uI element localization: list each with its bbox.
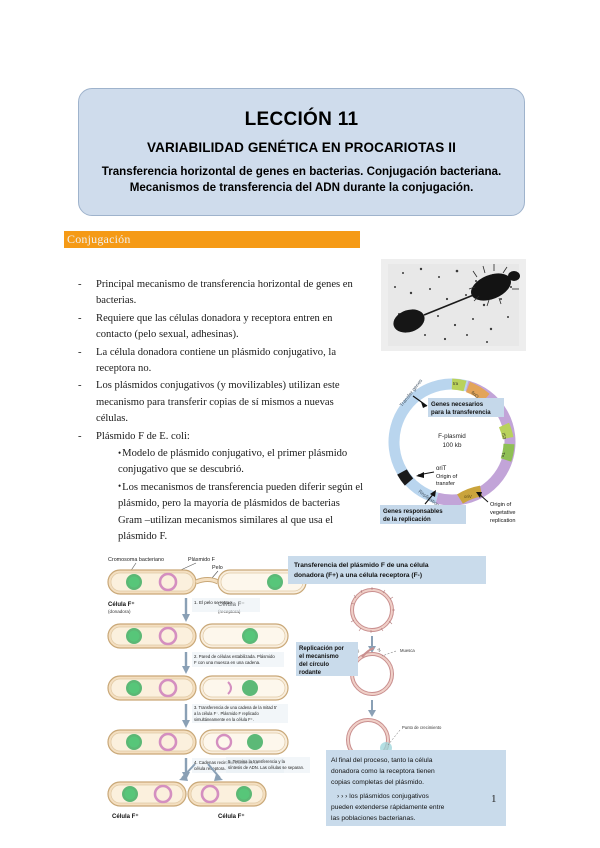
- callout-transfer-line2: para la transferencia: [431, 409, 491, 416]
- lesson-description: Transferencia horizontal de genes en bac…: [102, 164, 502, 195]
- document-page: LECCIÓN 11 VARIABILIDAD GENÉTICA EN PROC…: [0, 0, 600, 848]
- label-chromosome: Cromosoma bacteriano: [108, 557, 164, 563]
- f-plasmid-map-figure: tra finO IS3 Tn oriV Transfer genes Repl…: [378, 362, 533, 534]
- callout-replication-line2: de la replicación: [383, 516, 431, 523]
- step-1-text: 1. El pelo se retrae.: [194, 600, 233, 605]
- bullet-text: La célula donadora contiene un plásmido …: [96, 345, 366, 378]
- orit-label: oriT: [436, 466, 447, 472]
- step-3-text: 3. Transferencia de una cadena de la mit…: [194, 705, 277, 710]
- bullet-marker: -: [74, 429, 96, 445]
- plasmid-center-title: F-plasmid: [438, 433, 466, 440]
- callout-rolling-line2: el mecanismo: [299, 654, 339, 660]
- callout-final-box: Al final del proceso, tanto la célula do…: [326, 750, 506, 826]
- oriv-label-line2: vegetative: [490, 510, 516, 516]
- callout-rolling-line4: rodante: [299, 670, 322, 676]
- callout-rolling-line1: Replicación por: [299, 646, 345, 652]
- oriv-label-line1: Origin of: [490, 502, 512, 508]
- callout-rolling-circle-box: Replicación por el mecanismo del círculo…: [296, 642, 358, 676]
- callout-rolling-line3: del círculo: [299, 662, 329, 668]
- lesson-title-box: LECCIÓN 11 VARIABILIDAD GENÉTICA EN PROC…: [78, 88, 525, 216]
- page-title: LECCIÓN 11: [245, 109, 359, 131]
- bullet-marker: -: [74, 277, 96, 310]
- gene-tag-tra: tra: [453, 381, 459, 386]
- callout-transfer-line1: Transferencia del plásmido F de una célu…: [294, 562, 429, 569]
- label-final-left-cell: Célula F⁺: [112, 813, 139, 820]
- step-3-text-b: a la célula F⁻. Plásmido F replicado: [194, 711, 259, 716]
- bullet-marker: -: [74, 311, 96, 344]
- step-5-text: 5. Termina la transferencia y la: [228, 759, 286, 764]
- orit-sub-line1: Origin of: [436, 474, 458, 480]
- conjugation-process-figure: Cromosoma bacteriano Plásmido F Pelo: [100, 552, 510, 832]
- callout-final-line1: Al final del proceso, tanto la célula: [331, 757, 433, 764]
- page-number: 1: [491, 793, 497, 805]
- section-banner-label: Conjugación: [67, 232, 131, 247]
- bullet-text: Los plásmidos conjugativos (y movilizabl…: [96, 378, 366, 427]
- bullet-text: Principal mecanismo de transferencia hor…: [96, 277, 366, 310]
- bullet-marker: -: [74, 378, 96, 427]
- step-3-text-c: simultáneamente en la célula F⁺.: [194, 717, 254, 722]
- plasmid-center-size: 100 kb: [443, 442, 462, 449]
- label-final-right-cell: Célula F⁺: [218, 813, 245, 820]
- callout-final-line4: › › › los plásmidos conjugativos: [337, 793, 429, 800]
- callout-final-line6: las poblaciones bacterianas.: [331, 815, 416, 822]
- callout-transfer-line2: donadora (F+) a una célula receptora (F-…: [294, 572, 422, 579]
- bullet-text: Requiere que las células donadora y rece…: [96, 311, 366, 344]
- gene-tag-oriv: oriV: [464, 494, 472, 499]
- list-item: - Los plásmidos conjugativos (y moviliza…: [74, 378, 366, 427]
- step-2-text: 2. Pared de células estabilizada. Plásmi…: [194, 654, 275, 659]
- label-pilus: Pelo: [212, 565, 223, 571]
- section-banner-conjugacion: Conjugación: [64, 231, 360, 248]
- list-item: Los mecanismos de transferencia pueden d…: [74, 480, 366, 546]
- step-5-text-b: síntesis de ADN. Las células se separan.: [228, 765, 304, 770]
- label-donor-cell: Célula F⁺: [108, 601, 135, 608]
- label-nick: Muesca: [400, 648, 415, 653]
- bullet-text: Plásmido F de E. coli:: [96, 429, 366, 445]
- sub-bullet-text: Modelo de plásmido conjugativo, el prime…: [118, 446, 366, 479]
- list-item: - Requiere que las células donadora y re…: [74, 311, 366, 344]
- bullet-marker: -: [74, 345, 96, 378]
- callout-final-line3: copias completas del plásmido.: [331, 779, 424, 786]
- sub-bullet-text: Los mecanismos de transferencia pueden d…: [118, 480, 366, 546]
- step-2-text-cont: F con una muesca en una cadena.: [194, 660, 260, 665]
- callout-replication-line1: Genes responsables: [383, 508, 443, 515]
- list-item: - Principal mecanismo de transferencia h…: [74, 277, 366, 310]
- callout-final-line5: pueden extenderse rápidamente entre: [331, 804, 445, 811]
- orit-sub-line2: transfer: [436, 481, 455, 487]
- callout-final-line2: donadora como la receptora tienen: [331, 768, 435, 775]
- callout-transfer-line1: Genes necesarios: [431, 401, 484, 408]
- list-item: - Plásmido F de E. coli:: [74, 429, 366, 445]
- list-item: - La célula donadora contiene un plásmid…: [74, 345, 366, 378]
- callout-transfer-box: Transferencia del plásmido F de una célu…: [288, 556, 486, 584]
- oriv-label-line3: replication: [490, 518, 516, 524]
- label-plasmid-f: Plásmido F: [188, 557, 216, 563]
- electron-micrograph-image: [381, 259, 526, 351]
- subject-title: VARIABILIDAD GENÉTICA EN PROCARIOTAS II: [147, 140, 456, 155]
- list-item: Modelo de plásmido conjugativo, el prime…: [74, 446, 366, 479]
- label-growing-point: Punto de crecimiento: [402, 725, 442, 730]
- label-donor-cell-sub: (donadora): [108, 609, 131, 614]
- bullet-list: - Principal mecanismo de transferencia h…: [74, 277, 366, 547]
